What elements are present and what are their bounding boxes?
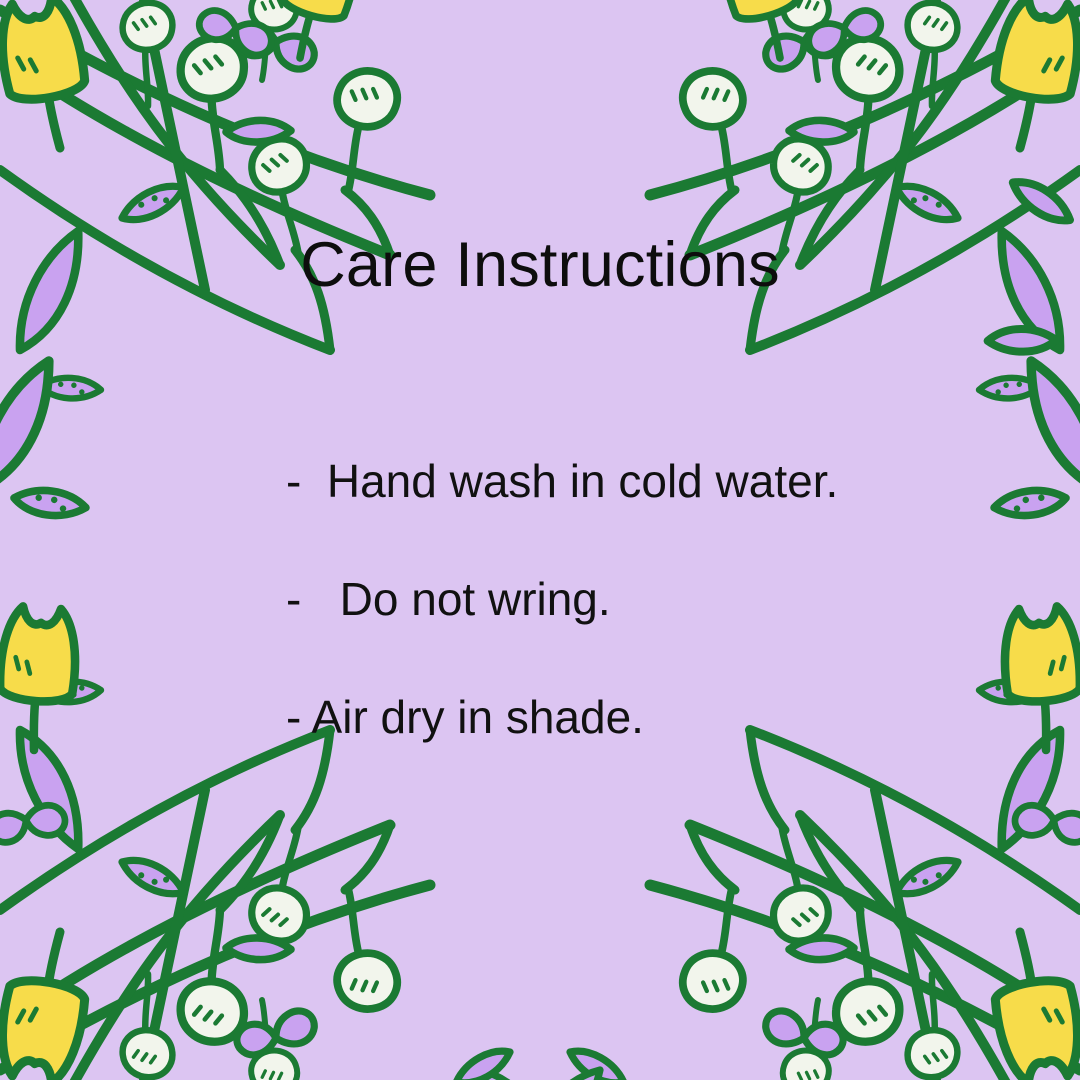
list-item: - Do not wring.: [286, 576, 838, 622]
list-item: - Hand wash in cold water.: [286, 458, 838, 504]
page-title: Care Instructions: [0, 232, 1080, 298]
care-instructions-card: Care Instructions - Hand wash in cold wa…: [0, 0, 1080, 1080]
list-item: - Air dry in shade.: [286, 694, 838, 740]
card-content: Care Instructions - Hand wash in cold wa…: [0, 0, 1080, 1080]
care-instructions-list: - Hand wash in cold water. - Do not wrin…: [286, 458, 838, 740]
